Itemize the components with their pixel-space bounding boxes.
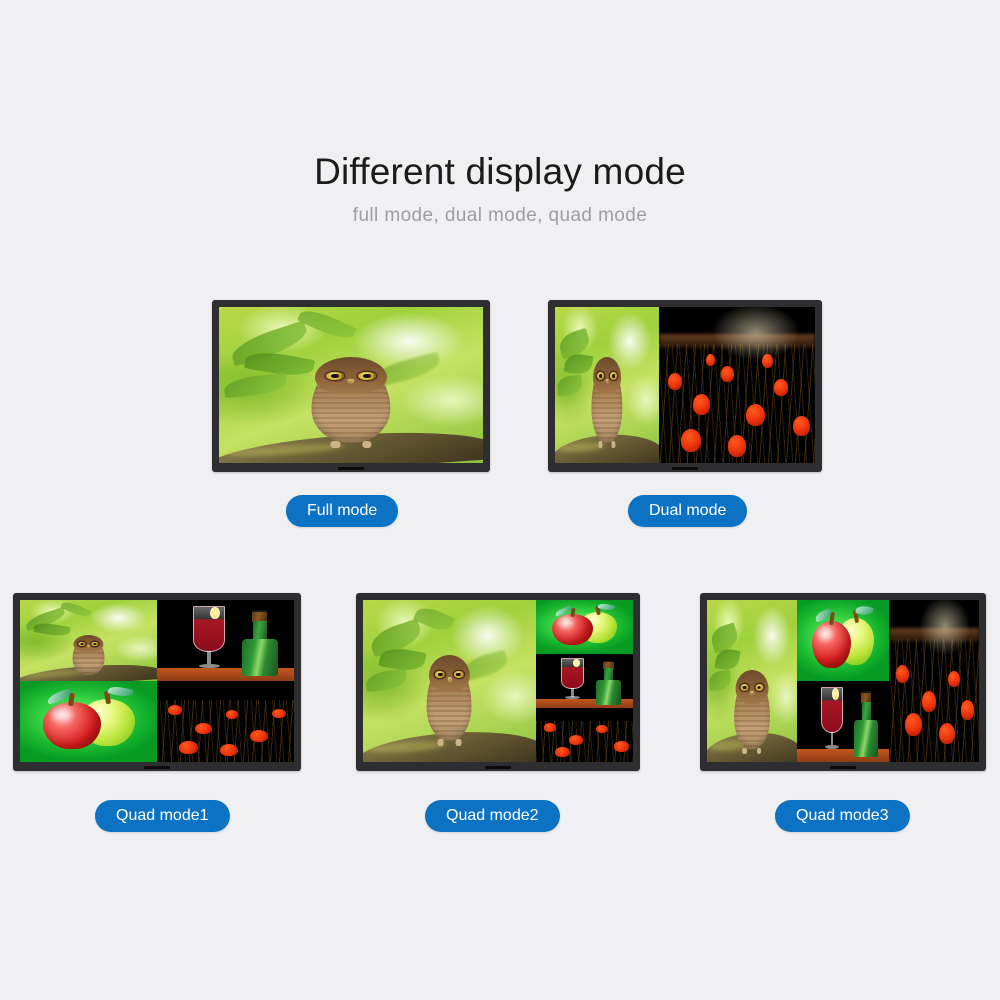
owl-eye-left <box>326 372 343 379</box>
monitor-quad-mode-2[interactable] <box>356 593 640 771</box>
glass-bowl <box>821 687 843 733</box>
monitor-full-mode[interactable] <box>212 300 490 472</box>
wine-bottle <box>854 692 878 757</box>
pane-owl[interactable] <box>219 307 483 463</box>
bezel-indicator <box>830 766 856 769</box>
bottle-body <box>854 720 878 758</box>
poppy-flower <box>939 723 954 744</box>
poppy-flower <box>746 404 765 426</box>
poppy-flower <box>905 713 921 736</box>
owl-figure <box>72 637 105 674</box>
owl-eye-right <box>92 642 99 645</box>
screen-quad-mode-2 <box>363 600 633 762</box>
poppy-flower <box>961 700 974 719</box>
glass-bowl <box>193 606 226 652</box>
owl-beak <box>447 677 451 682</box>
pane-poppy[interactable] <box>659 307 815 463</box>
pane-poppy[interactable] <box>157 681 294 762</box>
pane-apple[interactable] <box>797 600 889 681</box>
poppy-flower <box>721 366 733 382</box>
quad-side-column <box>536 600 633 762</box>
monitor-quad-mode-3[interactable] <box>700 593 986 771</box>
poppy-flower <box>569 735 584 745</box>
leaf-icon <box>61 600 92 620</box>
apple-leaf-icon <box>107 685 133 700</box>
bezel-indicator <box>672 467 698 470</box>
quad-center-column <box>797 600 889 762</box>
poppy-flower <box>272 709 286 719</box>
bottle-body <box>242 639 278 677</box>
page-title: Different display mode <box>0 150 1000 194</box>
leaf-icon <box>297 307 357 345</box>
owl-head <box>593 357 622 394</box>
pane-owl[interactable] <box>363 600 536 762</box>
badge-dual-mode[interactable]: Dual mode <box>628 495 747 527</box>
wine-bottle <box>596 662 621 705</box>
badge-quad-mode-3[interactable]: Quad mode3 <box>775 800 910 832</box>
owl-figure <box>734 675 770 750</box>
wine-bottle <box>242 611 278 676</box>
red-apple <box>43 702 101 749</box>
owl-eye-left <box>435 671 445 678</box>
screen-quad-mode-1 <box>20 600 294 762</box>
owl-foot-right <box>611 441 615 447</box>
quad-row-bottom <box>20 681 294 762</box>
owl-eye-right <box>610 372 617 379</box>
poppy-flower <box>728 435 747 457</box>
monitor-dual-mode[interactable] <box>548 300 822 472</box>
pane-owl[interactable] <box>707 600 797 762</box>
poppy-flower <box>793 416 810 436</box>
monitor-quad-mode-1[interactable] <box>13 593 301 771</box>
owl-foot-left <box>743 748 747 754</box>
bottle-neck <box>862 702 871 721</box>
poppy-flower <box>922 691 936 712</box>
bezel-indicator <box>485 766 511 769</box>
poppy-flower <box>896 665 909 683</box>
owl-foot-left <box>438 739 443 745</box>
page-subtitle: full mode, dual mode, quad mode <box>0 203 1000 229</box>
leaf-icon <box>366 669 409 693</box>
owl-beak <box>347 379 354 384</box>
red-apple <box>812 621 851 668</box>
poppy-flower <box>762 354 773 368</box>
owl-foot-right <box>362 441 372 447</box>
owl-head <box>73 635 103 652</box>
pane-poppy[interactable] <box>889 600 979 762</box>
apple-leaf-icon <box>598 602 616 612</box>
owl-head <box>315 357 388 394</box>
owl-foot-right <box>757 748 761 754</box>
owl-figure <box>427 660 472 741</box>
owl-foot-left <box>599 441 603 447</box>
wine-glass <box>193 606 226 668</box>
quad-row-top <box>20 600 294 681</box>
leaf-icon <box>223 372 288 397</box>
pane-apple[interactable] <box>20 681 157 762</box>
poppy-flower <box>250 730 268 742</box>
pane-wine[interactable] <box>157 600 294 681</box>
pane-wine[interactable] <box>536 654 633 708</box>
badge-quad-mode-1[interactable]: Quad mode1 <box>95 800 230 832</box>
glass-foot <box>825 745 839 749</box>
badge-full-mode[interactable]: Full mode <box>286 495 398 527</box>
pane-apple[interactable] <box>536 600 633 654</box>
bezel-indicator <box>338 467 364 470</box>
leaf-icon <box>33 621 70 638</box>
owl-figure <box>591 362 622 443</box>
poppy-flower <box>226 710 238 719</box>
poppy-flower <box>614 741 630 751</box>
poppy-flower <box>596 725 608 733</box>
poppy-flower <box>220 744 238 756</box>
poppy-flower <box>681 429 701 452</box>
leaf-icon <box>708 670 731 692</box>
poppy-flower <box>555 747 570 757</box>
owl-foot-left <box>330 441 340 447</box>
owl-eye-right <box>358 372 375 379</box>
owl-beak <box>606 379 609 384</box>
screen-full-mode <box>219 307 483 463</box>
glass-stem <box>831 732 834 746</box>
poppy-flower <box>544 723 557 732</box>
wine-glass <box>821 687 843 749</box>
owl-eye-right <box>454 671 464 678</box>
owl-beak <box>750 691 753 696</box>
poppy-flower <box>774 379 788 396</box>
pane-owl[interactable] <box>20 600 157 681</box>
page-header: Different display mode full mode, dual m… <box>0 150 1000 229</box>
owl-eye-left <box>741 684 749 691</box>
glass-foot <box>199 664 220 668</box>
owl-foot-right <box>456 739 461 745</box>
screen-dual-mode <box>555 307 815 463</box>
pane-owl[interactable] <box>555 307 659 463</box>
poppy-flower <box>195 723 211 734</box>
screen-quad-mode-3 <box>707 600 979 762</box>
owl-head <box>429 655 470 692</box>
poppy-flower <box>693 394 710 414</box>
poppy-flower <box>179 741 198 754</box>
glass-bowl <box>561 658 584 688</box>
owl-figure <box>311 362 390 443</box>
leaf-icon <box>556 374 583 395</box>
glass-stem <box>207 651 211 665</box>
poppy-flower <box>706 354 715 366</box>
bezel-indicator <box>144 766 170 769</box>
owl-beak <box>87 645 90 647</box>
wine-glass <box>561 658 584 699</box>
owl-eye-left <box>597 372 604 379</box>
owl-head <box>735 670 768 704</box>
badge-quad-mode-2[interactable]: Quad mode2 <box>425 800 560 832</box>
poppy-flower <box>168 705 182 715</box>
glass-foot <box>565 696 580 699</box>
owl-eye-right <box>755 684 763 691</box>
pane-wine[interactable] <box>797 681 889 762</box>
owl-eye-left <box>78 642 85 645</box>
bottle-body <box>596 680 621 705</box>
bottle-neck <box>253 621 267 640</box>
pane-poppy[interactable] <box>536 708 633 762</box>
poppy-flower <box>668 373 682 390</box>
apple-leaf-icon <box>855 605 873 618</box>
